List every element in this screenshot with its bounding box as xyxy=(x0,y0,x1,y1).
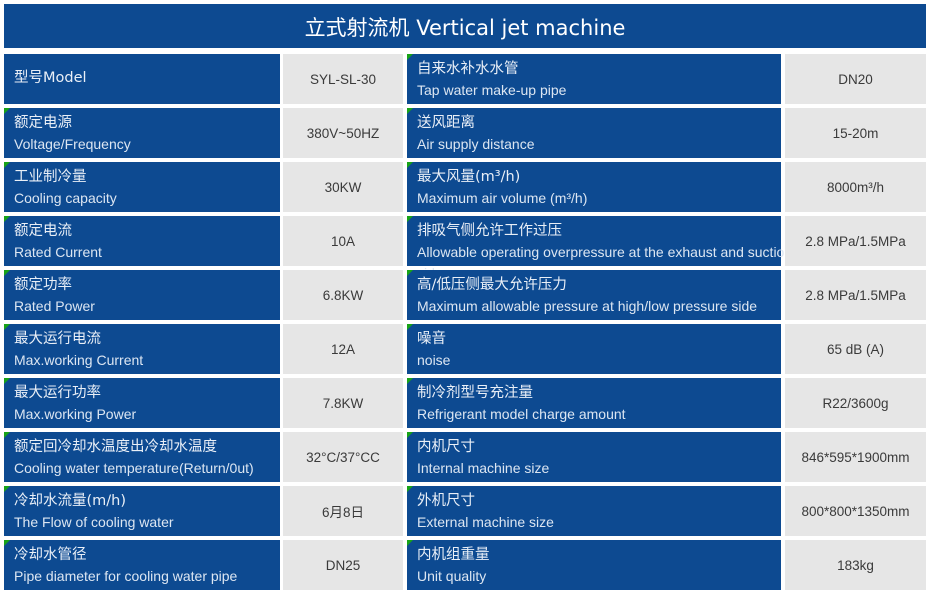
comment-marker-icon xyxy=(407,432,413,438)
comment-marker-icon xyxy=(407,486,413,492)
spec-label-cn: 冷却水流量(m/h) xyxy=(14,491,280,512)
comment-marker-icon xyxy=(407,162,413,168)
spec-label-en: Maximum allowable pressure at high/low p… xyxy=(417,296,781,317)
comment-marker-icon xyxy=(4,324,10,330)
spec-value-voltage-frequency: 380V~50HZ xyxy=(283,108,403,158)
spec-label-en: Rated Power xyxy=(14,296,280,317)
spec-value-max-working-power: 7.8KW xyxy=(283,378,403,428)
spec-label-en: Voltage/Frequency xyxy=(14,134,280,155)
spec-label-en: Cooling capacity xyxy=(14,188,280,209)
comment-marker-icon xyxy=(407,540,413,546)
spec-label-en: Pipe diameter for cooling water pipe xyxy=(14,566,280,587)
spec-label-en: Maximum air volume (m³/h) xyxy=(417,188,781,209)
spec-label-air-supply-distance: 送风距离 Air supply distance xyxy=(407,108,781,158)
spec-label-rated-current: 额定电流 Rated Current xyxy=(4,216,280,266)
table-row: 冷却水管径 Pipe diameter for cooling water pi… xyxy=(0,538,930,592)
spec-label-cn: 内机尺寸 xyxy=(417,437,781,458)
spec-label-en: Rated Current xyxy=(14,242,280,263)
spec-label-max-allowable-pressure: 高/低压侧最大允许压力 Maximum allowable pressure a… xyxy=(407,270,781,320)
comment-marker-icon xyxy=(4,378,10,384)
spec-label-rated-power: 额定功率 Rated Power xyxy=(4,270,280,320)
table-row: 额定电流 Rated Current 10A 排吸气侧允许工作过压 Allowa… xyxy=(0,214,930,268)
spec-label-en: Internal machine size xyxy=(417,458,781,479)
comment-marker-icon xyxy=(4,216,10,222)
spec-value-tap-water-pipe: DN20 xyxy=(785,54,926,104)
spec-label-en: Refrigerant model charge amount xyxy=(417,404,781,425)
spec-label-cn: 额定回冷却水温度出冷却水温度 xyxy=(14,437,280,458)
spec-label-cn: 内机组重量 xyxy=(417,545,781,566)
spec-label-unit-quality: 内机组重量 Unit quality xyxy=(407,540,781,590)
spec-label-en: Max.working Power xyxy=(14,404,280,425)
spec-value-model: SYL-SL-30 xyxy=(283,54,403,104)
spec-value-air-supply-distance: 15-20m xyxy=(785,108,926,158)
spec-label-cn: 自来水补水水管 xyxy=(417,59,781,80)
spec-label-cn: 冷却水管径 xyxy=(14,545,280,566)
table-row: 额定电源 Voltage/Frequency 380V~50HZ 送风距离 Ai… xyxy=(0,106,930,160)
spec-value-max-working-current: 12A xyxy=(283,324,403,374)
comment-marker-icon xyxy=(407,108,413,114)
spec-value-internal-machine-size: 846*595*1900mm xyxy=(785,432,926,482)
spec-label-cn: 送风距离 xyxy=(417,113,781,134)
comment-marker-icon xyxy=(407,324,413,330)
comment-marker-icon xyxy=(4,162,10,168)
spec-label-cn: 额定功率 xyxy=(14,275,280,296)
table-row: 最大运行功率 Max.working Power 7.8KW 制冷剂型号充注量 … xyxy=(0,376,930,430)
table-row: 额定回冷却水温度出冷却水温度 Cooling water temperature… xyxy=(0,430,930,484)
spec-label-cn: 最大运行功率 xyxy=(14,383,280,404)
spec-label-en: Cooling water temperature(Return/0ut) xyxy=(14,458,280,479)
spec-label-cooling-water-flow: 冷却水流量(m/h) The Flow of cooling water xyxy=(4,486,280,536)
spec-value-refrigerant-charge: R22/3600g xyxy=(785,378,926,428)
table-row: 型号Model SYL-SL-30 自来水补水水管 Tap water make… xyxy=(0,52,930,106)
spec-value-cooling-water-flow: 6月8日 xyxy=(283,486,403,536)
spec-value-max-air-volume: 8000m³/h xyxy=(785,162,926,212)
spec-label-max-working-power: 最大运行功率 Max.working Power xyxy=(4,378,280,428)
spec-table-body: 型号Model SYL-SL-30 自来水补水水管 Tap water make… xyxy=(0,52,930,592)
spec-label-internal-machine-size: 内机尺寸 Internal machine size xyxy=(407,432,781,482)
spec-value-max-allowable-pressure: 2.8 MPa/1.5MPa xyxy=(785,270,926,320)
comment-marker-icon xyxy=(4,432,10,438)
spec-label-cooling-water-pipe-diameter: 冷却水管径 Pipe diameter for cooling water pi… xyxy=(4,540,280,590)
page-title: 立式射流机 Vertical jet machine xyxy=(4,12,926,42)
comment-marker-icon xyxy=(407,216,413,222)
comment-marker-icon xyxy=(407,378,413,384)
table-row: 冷却水流量(m/h) The Flow of cooling water 6月8… xyxy=(0,484,930,538)
spec-value-rated-power: 6.8KW xyxy=(283,270,403,320)
comment-marker-icon xyxy=(4,540,10,546)
spec-label-cn: 型号Model xyxy=(14,68,280,89)
spec-label-cn: 最大风量(m³/h) xyxy=(417,167,781,188)
spec-value-cooling-capacity: 30KW xyxy=(283,162,403,212)
spec-label-cn: 工业制冷量 xyxy=(14,167,280,188)
spec-label-noise: 噪音 noise xyxy=(407,324,781,374)
comment-marker-icon xyxy=(4,108,10,114)
spec-label-en: noise xyxy=(417,350,781,371)
spec-label-en: Tap water make-up pipe xyxy=(417,80,781,101)
spec-label-cn: 额定电源 xyxy=(14,113,280,134)
spec-label-tap-water-pipe: 自来水补水水管 Tap water make-up pipe xyxy=(407,54,781,104)
spec-label-cn: 外机尺寸 xyxy=(417,491,781,512)
spec-label-en: The Flow of cooling water xyxy=(14,512,280,533)
spec-label-model: 型号Model xyxy=(4,54,280,104)
spec-label-cn: 噪音 xyxy=(417,329,781,350)
comment-marker-icon xyxy=(4,270,10,276)
spec-label-allowable-overpressure: 排吸气侧允许工作过压 Allowable operating overpress… xyxy=(407,216,781,266)
spec-label-refrigerant-charge: 制冷剂型号充注量 Refrigerant model charge amount xyxy=(407,378,781,428)
comment-marker-icon xyxy=(4,486,10,492)
spec-label-cn: 最大运行电流 xyxy=(14,329,280,350)
spec-label-en: External machine size xyxy=(417,512,781,533)
spec-label-max-working-current: 最大运行电流 Max.working Current xyxy=(4,324,280,374)
spec-value-cooling-water-pipe-diameter: DN25 xyxy=(283,540,403,590)
table-row: 工业制冷量 Cooling capacity 30KW 最大风量(m³/h) M… xyxy=(0,160,930,214)
spec-value-allowable-overpressure: 2.8 MPa/1.5MPa xyxy=(785,216,926,266)
comment-marker-icon xyxy=(407,270,413,276)
spec-value-external-machine-size: 800*800*1350mm xyxy=(785,486,926,536)
spec-value-unit-quality: 183kg xyxy=(785,540,926,590)
table-row: 额定功率 Rated Power 6.8KW 高/低压侧最大允许压力 Maxim… xyxy=(0,268,930,322)
comment-marker-icon xyxy=(407,54,413,60)
spec-value-cooling-water-temperature: 32°C/37°CC xyxy=(283,432,403,482)
spec-label-cooling-water-temperature: 额定回冷却水温度出冷却水温度 Cooling water temperature… xyxy=(4,432,280,482)
spec-label-cooling-capacity: 工业制冷量 Cooling capacity xyxy=(4,162,280,212)
spec-label-en: Unit quality xyxy=(417,566,781,587)
spec-label-cn: 高/低压侧最大允许压力 xyxy=(417,275,781,296)
table-title-bar: 立式射流机 Vertical jet machine xyxy=(4,4,926,48)
spec-label-max-air-volume: 最大风量(m³/h) Maximum air volume (m³/h) xyxy=(407,162,781,212)
spec-label-en: Max.working Current xyxy=(14,350,280,371)
spec-value-rated-current: 10A xyxy=(283,216,403,266)
spec-label-en: Air supply distance xyxy=(417,134,781,155)
spec-label-cn: 额定电流 xyxy=(14,221,280,242)
spec-value-noise: 65 dB (A) xyxy=(785,324,926,374)
spec-table-sheet: XHKG 宣和空调 立式射流机 Vertical jet machine 型号M… xyxy=(0,0,930,602)
spec-label-cn: 排吸气侧允许工作过压 xyxy=(417,221,781,242)
table-row: 最大运行电流 Max.working Current 12A 噪音 noise … xyxy=(0,322,930,376)
spec-label-cn: 制冷剂型号充注量 xyxy=(417,383,781,404)
spec-label-voltage-frequency: 额定电源 Voltage/Frequency xyxy=(4,108,280,158)
spec-label-external-machine-size: 外机尺寸 External machine size xyxy=(407,486,781,536)
